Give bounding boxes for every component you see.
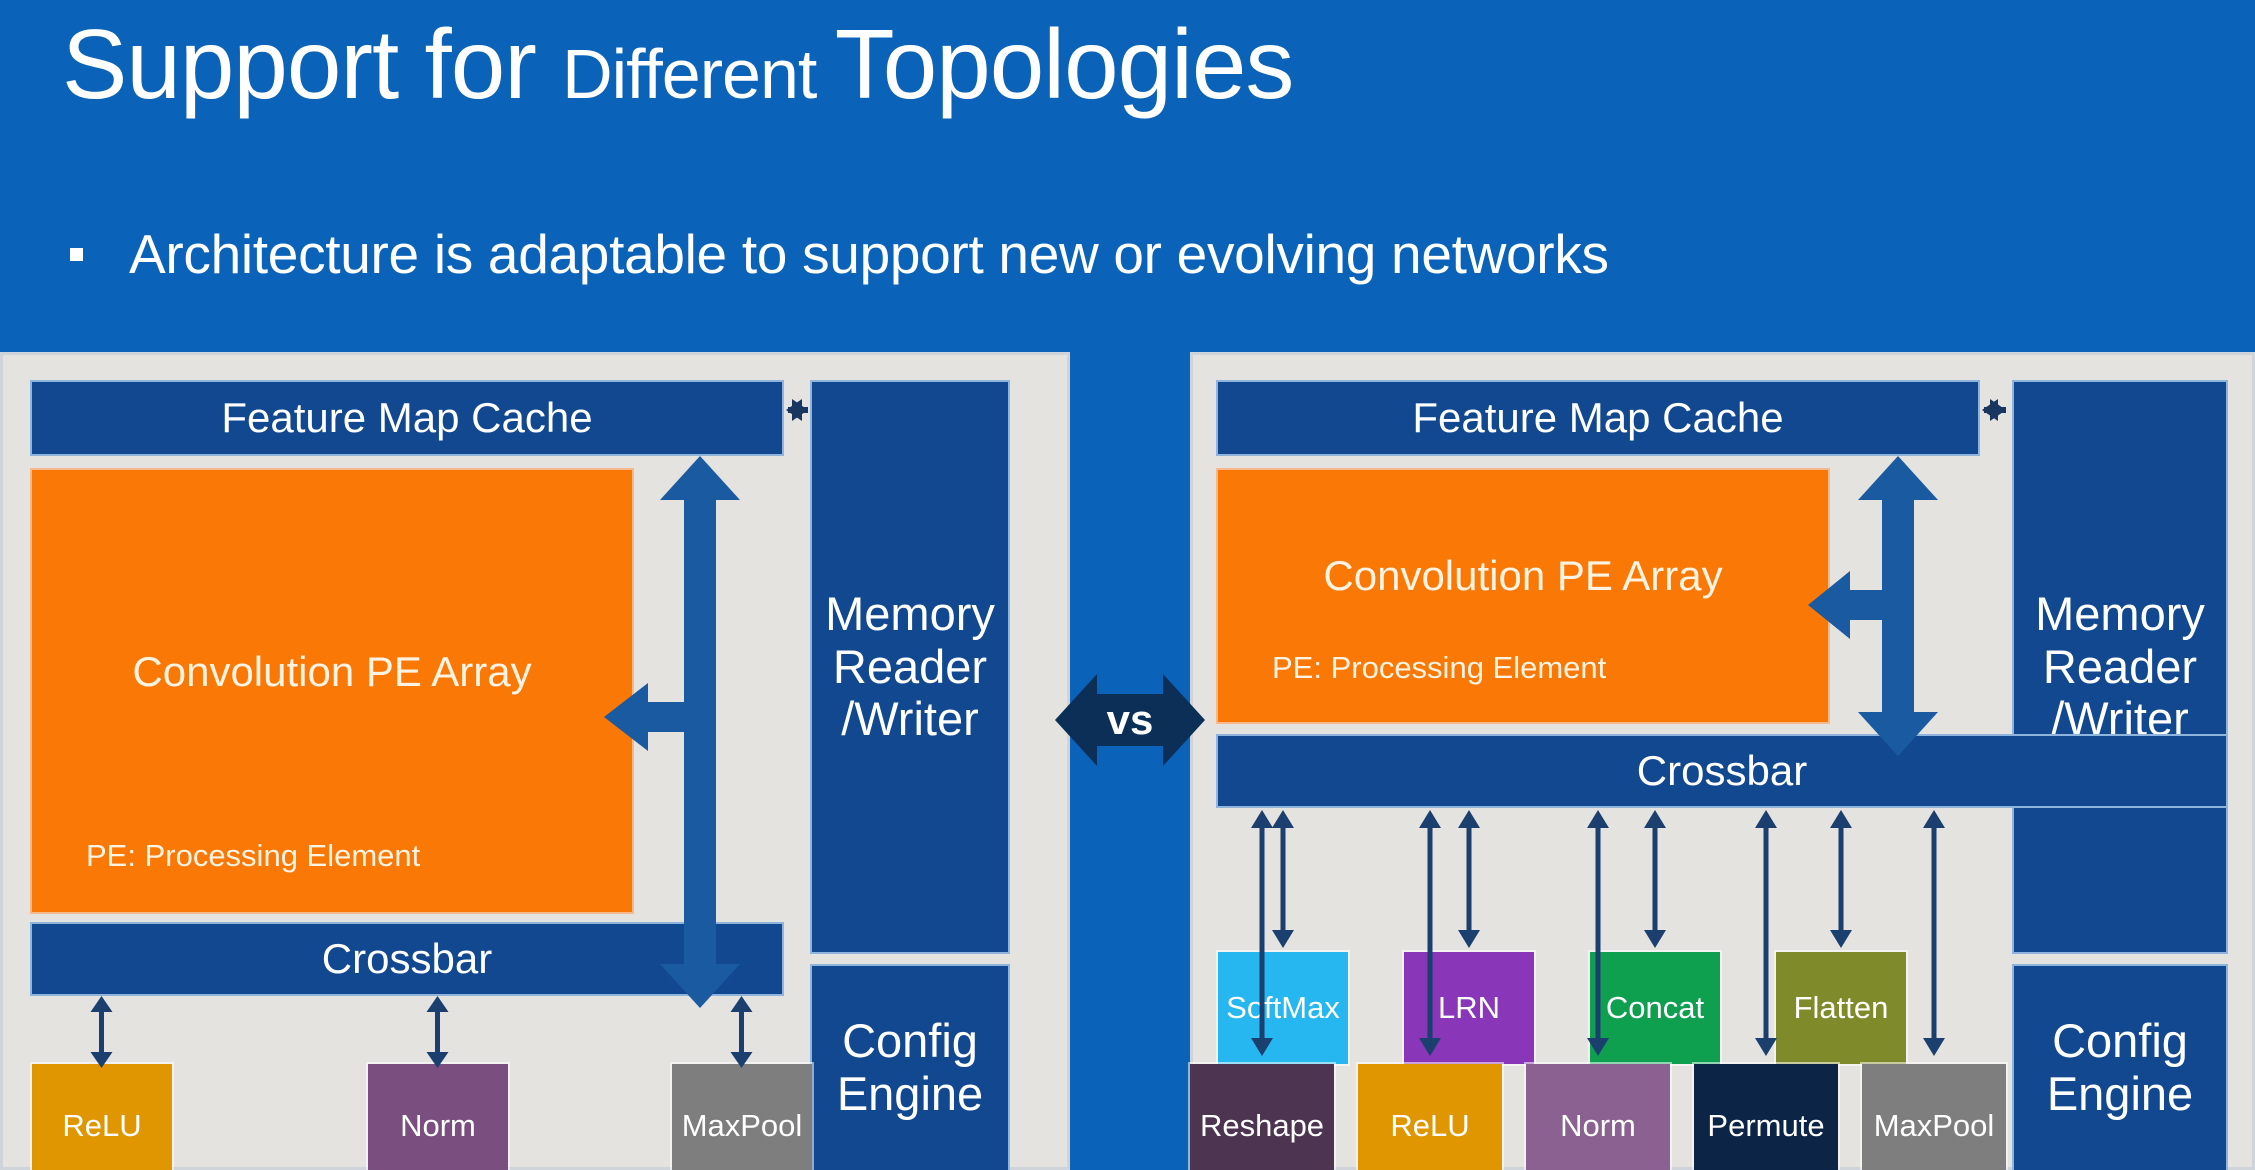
left-memory-reader-writer-block: Memory Reader /Writer [812,382,1008,952]
right-op-relu: ReLU [1358,1064,1502,1170]
left-memory-rw-line-3: /Writer [841,693,979,746]
bullet-point: Architecture is adaptable to support new… [70,222,1609,286]
right-op-maxpool: MaxPool [1862,1064,2006,1170]
right-op-reshape: Reshape [1190,1064,1334,1170]
right-op-norm: Norm [1526,1064,1670,1170]
right-memory-rw-line-1: Memory [2035,588,2205,641]
left-feature-map-cache-block: Feature Map Cache [32,382,782,454]
right-config-engine-line-1: Config [2052,1015,2188,1068]
right-op-permute: Permute [1694,1064,1838,1170]
left-op-relu: ReLU [32,1064,172,1170]
right-op-flatten: Flatten [1776,952,1906,1064]
title-segment-topologies: Topologies [835,9,1294,119]
left-pe-array-title: Convolution PE Array [32,648,632,696]
vs-label: vs [1055,660,1205,780]
left-crossbar-block: Crossbar [32,924,782,994]
right-op-lrn: LRN [1404,952,1534,1064]
left-architecture-panel: Feature Map Cache Memory Reader /Writer … [0,352,1070,1170]
left-convolution-pe-array: Convolution PE Array PE: Processing Elem… [32,470,632,912]
right-op-softmax: SoftMax [1218,952,1348,1064]
right-config-engine-block: Config Engine [2014,966,2226,1170]
right-convolution-pe-array: Convolution PE Array PE: Processing Elem… [1218,470,1828,722]
left-config-engine-line-2: Engine [837,1068,983,1121]
right-feature-map-cache-block: Feature Map Cache [1218,382,1978,454]
right-config-engine-line-2: Engine [2047,1068,2193,1121]
left-op-maxpool: MaxPool [672,1064,812,1170]
left-op-norm: Norm [368,1064,508,1170]
vs-comparator-badge: vs [1055,660,1205,780]
slide-root: Support for Different Topologies Archite… [0,0,2255,1170]
left-config-engine-block: Config Engine [812,966,1008,1170]
right-memory-rw-line-2: Reader [2043,641,2197,694]
right-crossbar-block: Crossbar [1218,736,2226,806]
page-title: Support for Different Topologies [62,8,1293,121]
left-memory-rw-line-1: Memory [825,588,995,641]
right-memory-reader-writer-block: Memory Reader /Writer [2014,382,2226,952]
title-segment-support-for: Support for [62,9,562,119]
left-memory-rw-line-2: Reader [833,641,987,694]
bullet-text: Architecture is adaptable to support new… [129,222,1609,286]
right-pe-array-subtitle: PE: Processing Element [1218,650,1828,686]
right-op-concat: Concat [1590,952,1720,1064]
left-pe-array-subtitle: PE: Processing Element [32,838,632,874]
left-config-engine-line-1: Config [842,1015,978,1068]
right-architecture-panel: Feature Map Cache Memory Reader /Writer … [1190,352,2255,1170]
right-pe-array-title: Convolution PE Array [1218,552,1828,600]
bullet-square-icon [70,248,83,261]
title-segment-different: Different [562,35,835,113]
